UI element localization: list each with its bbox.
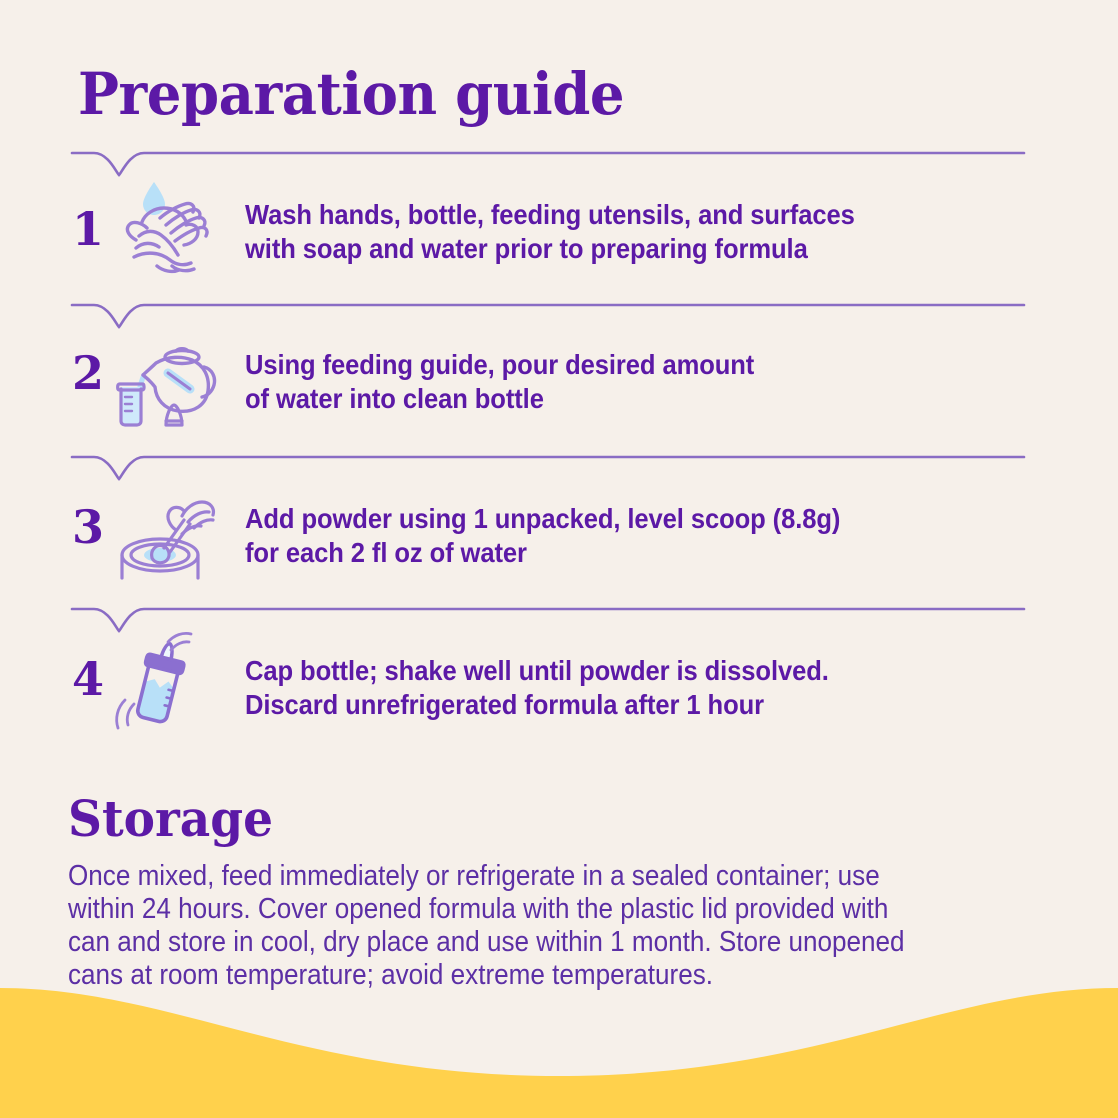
preparation-guide-page: Preparation guide 1	[0, 0, 1118, 1118]
step-text-line: Cap bottle; shake well until powder is d…	[245, 654, 989, 688]
page-title: Preparation guide	[78, 64, 624, 125]
storage-title: Storage	[68, 793, 989, 846]
step-item: 2	[0, 302, 1118, 454]
shaking-bottle-icon	[112, 628, 224, 732]
step-text-line: of water into clean bottle	[245, 382, 989, 416]
step-text-line: Using feeding guide, pour desired amount	[245, 348, 989, 382]
step-item: 4	[0, 606, 1118, 758]
step-text: Add powder using 1 unpacked, level scoop…	[245, 502, 989, 569]
washing-hands-icon	[112, 178, 224, 282]
step-divider	[72, 150, 1024, 176]
step-number: 1	[72, 206, 116, 252]
storage-body-line: Once mixed, feed immediately or refriger…	[68, 860, 965, 893]
step-item: 3	[0, 454, 1118, 606]
storage-body-line: can and store in cool, dry place and use…	[68, 926, 965, 959]
storage-body-line: cans at room temperature; avoid extreme …	[68, 959, 965, 992]
steps-list: 1	[0, 150, 1118, 758]
step-divider	[72, 454, 1024, 480]
step-text-line: Add powder using 1 unpacked, level scoop…	[245, 502, 989, 536]
step-text-line: for each 2 fl oz of water	[245, 536, 989, 570]
step-text-line: Wash hands, bottle, feeding utensils, an…	[245, 198, 989, 232]
storage-body-line: within 24 hours. Cover opened formula wi…	[68, 893, 965, 926]
step-text-line: with soap and water prior to preparing f…	[245, 232, 989, 266]
step-item: 1	[0, 150, 1118, 302]
step-number: 2	[72, 350, 116, 396]
storage-section: Storage Once mixed, feed immediately or …	[68, 793, 1048, 992]
step-divider	[72, 302, 1024, 328]
step-text-line: Discard unrefrigerated formula after 1 h…	[245, 688, 989, 722]
step-number: 3	[72, 504, 116, 550]
step-text: Wash hands, bottle, feeding utensils, an…	[245, 198, 989, 265]
step-text: Cap bottle; shake well until powder is d…	[245, 654, 989, 721]
step-number: 4	[72, 656, 116, 702]
hand-scoop-can-icon	[112, 482, 224, 586]
storage-body: Once mixed, feed immediately or refriger…	[68, 860, 965, 992]
kettle-pouring-bottle-icon	[112, 327, 224, 431]
step-text: Using feeding guide, pour desired amount…	[245, 348, 989, 415]
